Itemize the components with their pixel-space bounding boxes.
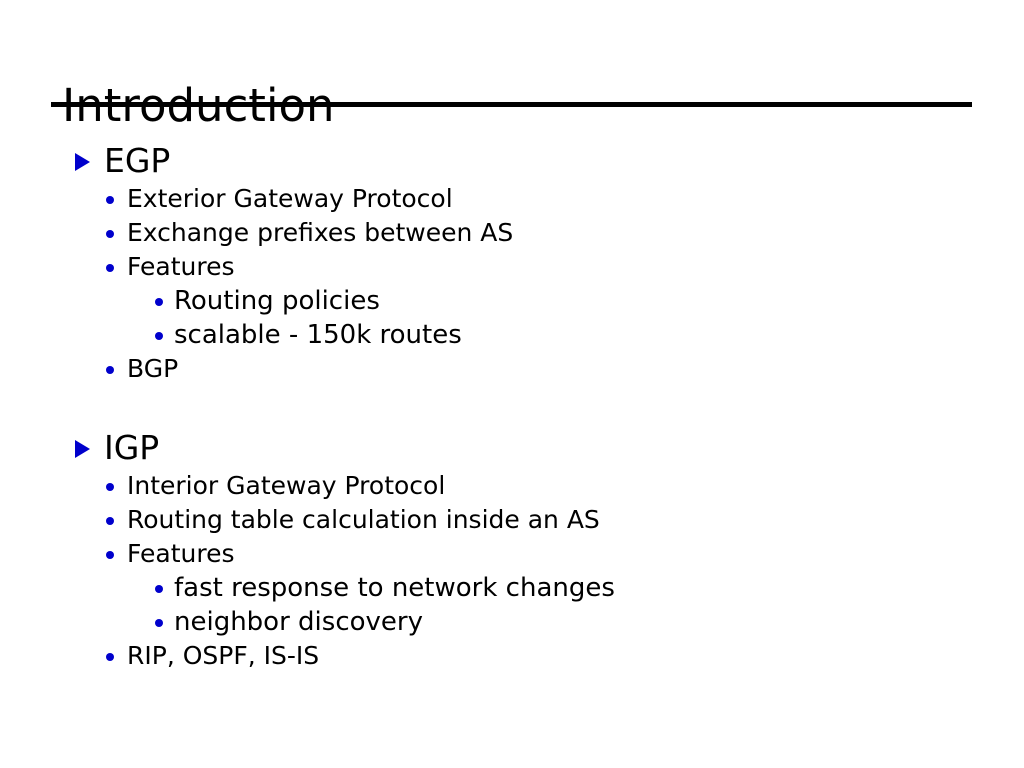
dot-bullet-icon bbox=[106, 653, 114, 661]
sub-list-item: fast response to network changes bbox=[0, 571, 1024, 605]
dot-bullet-icon bbox=[106, 551, 114, 559]
list-item-label: Exterior Gateway Protocol bbox=[127, 184, 453, 213]
slide: Introduction EGP Exterior Gateway Protoc… bbox=[0, 0, 1024, 768]
sub-list-item: Routing policies bbox=[0, 284, 1024, 318]
list-item: Interior Gateway Protocol bbox=[0, 469, 1024, 503]
bullet-list-igp: IGP Interior Gateway Protocol Routing ta… bbox=[0, 427, 1024, 673]
dot-bullet-icon bbox=[106, 483, 114, 491]
sub-list-item: neighbor discovery bbox=[0, 605, 1024, 639]
bullet-list-egp: EGP Exterior Gateway Protocol Exchange p… bbox=[0, 140, 1024, 386]
slide-body: EGP Exterior Gateway Protocol Exchange p… bbox=[0, 140, 1024, 673]
list-item-label: Features bbox=[127, 539, 235, 568]
section-heading-egp: EGP bbox=[0, 140, 1024, 182]
list-item-label: Interior Gateway Protocol bbox=[127, 471, 445, 500]
section-heading-label: IGP bbox=[104, 428, 159, 467]
section-heading-label: EGP bbox=[104, 141, 170, 180]
triangle-bullet-icon bbox=[75, 153, 90, 171]
sub-list-item-label: scalable - 150k routes bbox=[174, 320, 462, 350]
dot-bullet-icon bbox=[106, 366, 114, 374]
section-heading-igp: IGP bbox=[0, 427, 1024, 469]
dot-bullet-icon bbox=[155, 332, 163, 340]
list-item: Routing table calculation inside an AS bbox=[0, 503, 1024, 537]
list-item: Features bbox=[0, 250, 1024, 284]
dot-bullet-icon bbox=[106, 517, 114, 525]
list-item: BGP bbox=[0, 352, 1024, 386]
list-item: Exterior Gateway Protocol bbox=[0, 182, 1024, 216]
dot-bullet-icon bbox=[155, 585, 163, 593]
list-item-label: Exchange prefixes between AS bbox=[127, 218, 513, 247]
dot-bullet-icon bbox=[155, 298, 163, 306]
list-item-label: BGP bbox=[127, 354, 178, 383]
dot-bullet-icon bbox=[106, 230, 114, 238]
list-item-label: Features bbox=[127, 252, 235, 281]
sub-list-item-label: neighbor discovery bbox=[174, 607, 423, 637]
sub-list-item: scalable - 150k routes bbox=[0, 318, 1024, 352]
dot-bullet-icon bbox=[106, 264, 114, 272]
title-divider bbox=[51, 102, 972, 107]
triangle-bullet-icon bbox=[75, 440, 90, 458]
list-item: RIP, OSPF, IS-IS bbox=[0, 639, 1024, 673]
sub-list-item-label: Routing policies bbox=[174, 286, 380, 316]
list-item: Exchange prefixes between AS bbox=[0, 216, 1024, 250]
dot-bullet-icon bbox=[106, 196, 114, 204]
sub-list-item-label: fast response to network changes bbox=[174, 573, 615, 603]
list-item-label: Routing table calculation inside an AS bbox=[127, 505, 600, 534]
list-item-label: RIP, OSPF, IS-IS bbox=[127, 641, 319, 670]
dot-bullet-icon bbox=[155, 619, 163, 627]
list-item: Features bbox=[0, 537, 1024, 571]
